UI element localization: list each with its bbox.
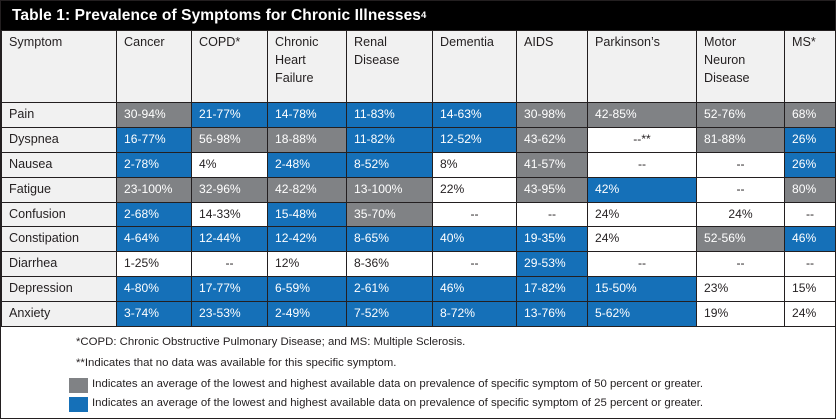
table-figure: Table 1: Prevalence of Symptoms for Chro… — [0, 0, 836, 419]
data-cell: 8-65% — [347, 227, 433, 252]
row-header-symptom: Fatigue — [2, 177, 117, 202]
data-cell: 23% — [697, 277, 785, 302]
legend-swatch-gray-icon — [69, 378, 88, 393]
header-row: Symptom Cancer COPD* Chronic Heart Failu… — [2, 31, 836, 103]
data-cell: 2-49% — [268, 302, 347, 327]
column-header-chronic-heart-failure: Chronic Heart Failure — [268, 31, 347, 103]
data-cell: 19-35% — [517, 227, 588, 252]
data-cell: 42% — [588, 177, 697, 202]
table-row: Pain30-94%21-77%14-78%11-83%14-63%30-98%… — [2, 103, 836, 128]
table-header: Symptom Cancer COPD* Chronic Heart Failu… — [2, 31, 836, 103]
data-cell: 17-82% — [517, 277, 588, 302]
data-cell: 12-52% — [433, 127, 517, 152]
data-cell: 3-74% — [117, 302, 192, 327]
data-cell: 11-83% — [347, 103, 433, 128]
row-header-symptom: Dyspnea — [2, 127, 117, 152]
data-cell: 4-80% — [117, 277, 192, 302]
column-header-symptom: Symptom — [2, 31, 117, 103]
column-header-ms: MS* — [785, 31, 836, 103]
data-cell: 23-53% — [192, 302, 268, 327]
column-header-cancer: Cancer — [117, 31, 192, 103]
row-header-symptom: Diarrhea — [2, 252, 117, 277]
data-cell: 26% — [785, 127, 836, 152]
title-superscript: 4 — [421, 10, 426, 21]
data-cell: 13-100% — [347, 177, 433, 202]
data-cell: 80% — [785, 177, 836, 202]
data-cell: -- — [697, 152, 785, 177]
legend-label-blue: Indicates an average of the lowest and h… — [92, 396, 703, 410]
data-cell: 6-59% — [268, 277, 347, 302]
column-header-dementia: Dementia — [433, 31, 517, 103]
row-header-symptom: Confusion — [2, 202, 117, 227]
data-cell: 12% — [268, 252, 347, 277]
data-cell: 30-94% — [117, 103, 192, 128]
column-header-motor-neuron-disease: Motor Neuron Disease — [697, 31, 785, 103]
data-cell: 24% — [588, 227, 697, 252]
table-row: Constipation4-64%12-44%12-42%8-65%40%19-… — [2, 227, 836, 252]
data-cell: -- — [697, 252, 785, 277]
data-cell: 13-76% — [517, 302, 588, 327]
data-cell: 1-25% — [117, 252, 192, 277]
data-cell: 24% — [785, 302, 836, 327]
data-cell: 43-62% — [517, 127, 588, 152]
data-cell: 40% — [433, 227, 517, 252]
data-cell: 18-88% — [268, 127, 347, 152]
data-cell: 21-77% — [192, 103, 268, 128]
table-row: Diarrhea1-25%--12%8-36%--29-53%------ — [2, 252, 836, 277]
legend-item-blue: Indicates an average of the lowest and h… — [1, 396, 835, 412]
data-cell: 22% — [433, 177, 517, 202]
page-title: Table 1: Prevalence of Symptoms for Chro… — [12, 7, 421, 25]
row-header-symptom: Constipation — [2, 227, 117, 252]
column-header-copd: COPD* — [192, 31, 268, 103]
data-cell: --** — [588, 127, 697, 152]
data-cell: -- — [785, 202, 836, 227]
data-cell: 14-78% — [268, 103, 347, 128]
data-cell: 17-77% — [192, 277, 268, 302]
table-row: Anxiety3-74%23-53%2-49%7-52%8-72%13-76%5… — [2, 302, 836, 327]
data-cell: 4% — [192, 152, 268, 177]
footnote-copd-ms: *COPD: Chronic Obstructive Pulmonary Dis… — [1, 335, 835, 349]
data-cell: 42-85% — [588, 103, 697, 128]
data-cell: 8% — [433, 152, 517, 177]
data-cell: 14-33% — [192, 202, 268, 227]
data-cell: 32-96% — [192, 177, 268, 202]
data-cell: 41-57% — [517, 152, 588, 177]
data-cell: 52-56% — [697, 227, 785, 252]
data-cell: -- — [192, 252, 268, 277]
data-cell: 2-68% — [117, 202, 192, 227]
data-cell: 5-62% — [588, 302, 697, 327]
data-cell: 15-50% — [588, 277, 697, 302]
table-row: Depression4-80%17-77%6-59%2-61%46%17-82%… — [2, 277, 836, 302]
data-cell: 2-78% — [117, 152, 192, 177]
data-cell: 8-52% — [347, 152, 433, 177]
table-row: Fatigue23-100%32-96%42-82%13-100%22%43-9… — [2, 177, 836, 202]
legend-label-gray: Indicates an average of the lowest and h… — [92, 377, 703, 391]
data-cell: 46% — [433, 277, 517, 302]
data-cell: 2-61% — [347, 277, 433, 302]
footnote-no-data: **Indicates that no data was available f… — [1, 356, 835, 370]
data-cell: 15% — [785, 277, 836, 302]
legend-swatch-blue-icon — [69, 397, 88, 412]
legend-item-gray: Indicates an average of the lowest and h… — [1, 377, 835, 393]
data-cell: 26% — [785, 152, 836, 177]
row-header-symptom: Anxiety — [2, 302, 117, 327]
data-cell: 7-52% — [347, 302, 433, 327]
table-notes: *COPD: Chronic Obstructive Pulmonary Dis… — [1, 327, 835, 413]
prevalence-table: Symptom Cancer COPD* Chronic Heart Failu… — [1, 30, 836, 327]
data-cell: 11-82% — [347, 127, 433, 152]
data-cell: 35-70% — [347, 202, 433, 227]
column-header-renal-disease: Renal Disease — [347, 31, 433, 103]
data-cell: 43-95% — [517, 177, 588, 202]
data-cell: 23-100% — [117, 177, 192, 202]
data-cell: 81-88% — [697, 127, 785, 152]
data-cell: 56-98% — [192, 127, 268, 152]
data-cell: 16-77% — [117, 127, 192, 152]
data-cell: 68% — [785, 103, 836, 128]
data-cell: 8-36% — [347, 252, 433, 277]
table-body: Pain30-94%21-77%14-78%11-83%14-63%30-98%… — [2, 103, 836, 327]
column-header-parkinsons: Parkinson’s — [588, 31, 697, 103]
data-cell: 19% — [697, 302, 785, 327]
data-cell: 2-48% — [268, 152, 347, 177]
data-cell: -- — [785, 252, 836, 277]
data-cell: 24% — [697, 202, 785, 227]
data-cell: 29-53% — [517, 252, 588, 277]
row-header-symptom: Nausea — [2, 152, 117, 177]
column-header-aids: AIDS — [517, 31, 588, 103]
data-cell: 4-64% — [117, 227, 192, 252]
data-cell: 14-63% — [433, 103, 517, 128]
data-cell: -- — [697, 177, 785, 202]
row-header-symptom: Depression — [2, 277, 117, 302]
data-cell: -- — [433, 252, 517, 277]
data-cell: 42-82% — [268, 177, 347, 202]
table-title-bar: Table 1: Prevalence of Symptoms for Chro… — [1, 1, 835, 30]
data-cell: -- — [517, 202, 588, 227]
data-cell: 46% — [785, 227, 836, 252]
data-cell: 24% — [588, 202, 697, 227]
data-cell: 30-98% — [517, 103, 588, 128]
data-cell: -- — [588, 252, 697, 277]
data-cell: 15-48% — [268, 202, 347, 227]
table-row: Confusion2-68%14-33%15-48%35-70%----24%2… — [2, 202, 836, 227]
data-cell: 12-44% — [192, 227, 268, 252]
data-cell: -- — [588, 152, 697, 177]
data-cell: 8-72% — [433, 302, 517, 327]
data-cell: -- — [433, 202, 517, 227]
table-row: Nausea2-78%4%2-48%8-52%8%41-57%----26% — [2, 152, 836, 177]
row-header-symptom: Pain — [2, 103, 117, 128]
data-cell: 52-76% — [697, 103, 785, 128]
data-cell: 12-42% — [268, 227, 347, 252]
table-row: Dyspnea16-77%56-98%18-88%11-82%12-52%43-… — [2, 127, 836, 152]
